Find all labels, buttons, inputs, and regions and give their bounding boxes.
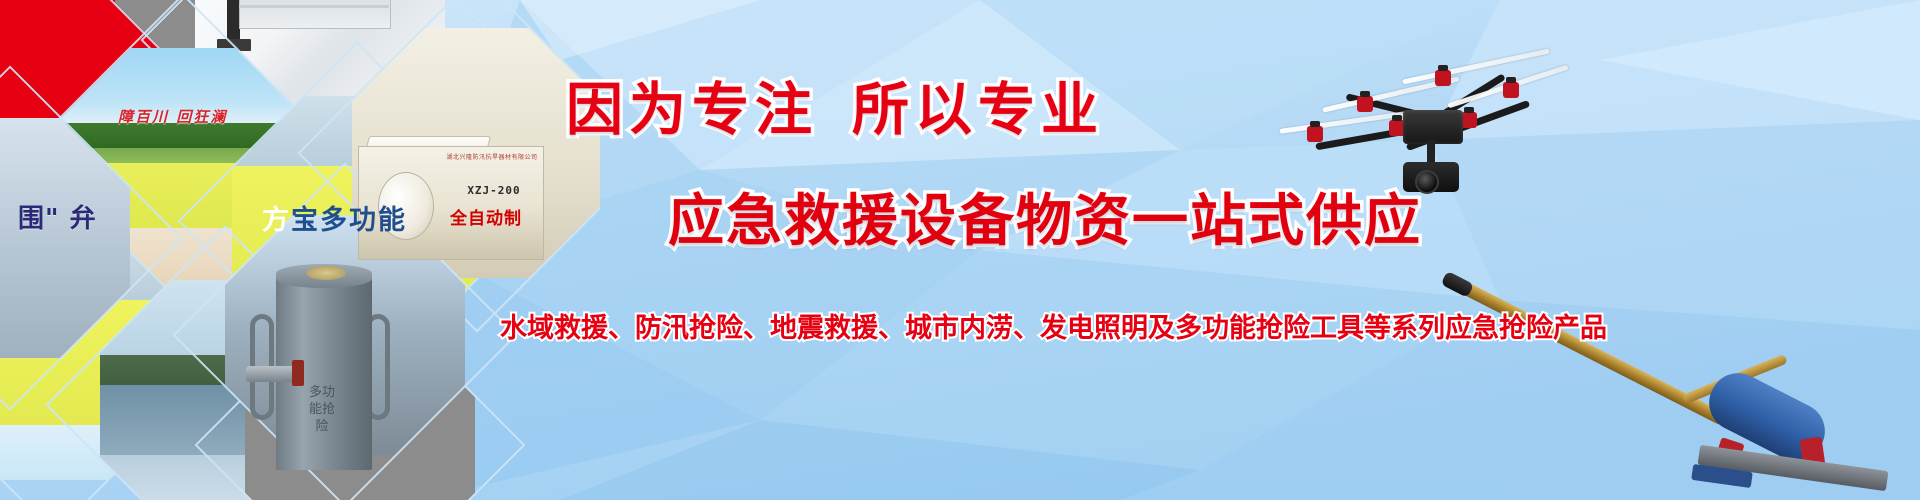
sandbag-machine-image: 湖北兴隆防汛抗旱器材有限公司 XZJ-200 全自动制 <box>352 132 548 260</box>
rope-launcher-image <box>1430 262 1900 500</box>
collage-slogan: 障百川 回狂澜 <box>118 106 227 127</box>
machine-model-label: XZJ-200 <box>448 184 540 197</box>
headline-primary-part1: 因为专注 <box>566 77 818 143</box>
caption-machine-part1: 方 <box>262 205 291 236</box>
collage-seal-text: 围" 弁 <box>18 198 97 235</box>
promo-banner: 障百川 回狂澜 围" 弁 湖北兴隆防汛抗旱器材有限公司 XZJ-200 全自动制… <box>0 0 1920 500</box>
headline-primary: 因为专注所以专业 <box>566 64 1104 146</box>
multi-tool-image: 多功能抢险 <box>236 256 412 500</box>
caption-machine-part2: 宝多功能 <box>291 205 407 236</box>
headline-primary-part2: 所以专业 <box>852 77 1104 143</box>
machine-title-label: 全自动制 <box>430 204 542 229</box>
tool-label: 多功能抢险 <box>308 384 336 435</box>
headline-secondary: 应急救援设备物资一站式供应 <box>668 176 1422 257</box>
collage-machine-caption: 方宝多功能 <box>262 198 407 237</box>
machine-brand-label: 湖北兴隆防汛抗旱器材有限公司 <box>444 154 540 162</box>
product-scope-text: 水域救援、防汛抢险、地震救援、城市内涝、发电照明及多功能抢险工具等系列应急抢险产… <box>500 306 1607 345</box>
